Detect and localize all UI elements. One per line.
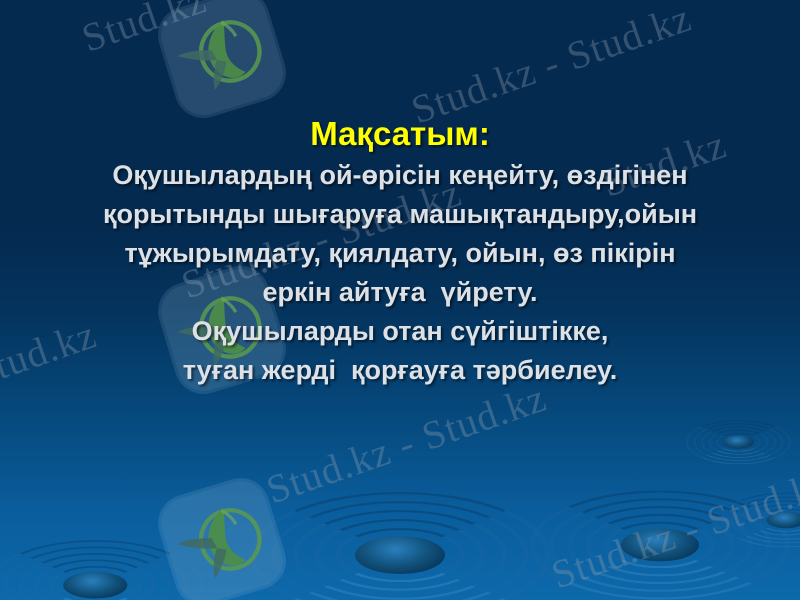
ripple-core [63,571,128,598]
slide-title: Мақсатым: [16,112,784,156]
ripple-ring [641,537,678,553]
presentation-slide: Stud.kz - Stud.kzStud.kz - Stud.kzStud.k… [0,0,800,600]
ripple-core [722,435,754,448]
watermark-text: Stud.kz - Stud.kz [545,459,800,599]
ripple-ring [777,516,796,524]
ripple-ring [767,512,800,528]
slide-body-line: қорытынды шығаруға машықтандыру,ойын [16,195,784,234]
watermark-text: Stud.kz [76,0,212,62]
ripple-medium-left [0,540,203,600]
ripple-ring [723,436,753,449]
ripple-ring [357,537,443,573]
ripple-ring [693,423,783,461]
slide-body-line: еркін айтуға үйрету. [16,273,784,312]
slide-body-line: туған жерді қорғауға тәрбиелеу. [16,351,784,390]
ripple-ring [64,572,125,598]
ripple-ring [336,528,465,582]
hummingbird-logo-icon [155,0,290,121]
ripple-ring [567,506,753,584]
ripple-ring [740,501,800,540]
ripple-ring [716,433,761,452]
ripple-ring [0,540,203,600]
slide-content: Мақсатым: Оқушылардың ой-өрісін кеңейту,… [0,112,800,390]
ripple-ring [731,439,746,445]
ripple-ring [708,429,768,454]
ripple-ring [586,514,735,576]
ripple-ring [293,510,507,600]
slide-body-line: Оқушылардың ой-өрісін кеңейту, өздігінен [16,156,784,195]
slide-body-line: тұжырымдату, қиялдату, ойын, өз пікірін [16,234,784,273]
ripple-ring [3,546,187,600]
ripple-ring [701,426,776,458]
ripple-small-edge [721,493,800,548]
ripple-ring [18,553,172,600]
ripple-ring [379,546,422,564]
ripple-core [621,529,699,562]
ripple-ring [250,492,550,600]
slide-body: Оқушылардың ой-өрісін кеңейту, өздігінен… [16,156,784,390]
ripple-ring [604,522,715,569]
ripple-core [767,512,800,528]
hummingbird-logo-icon [155,475,290,600]
ripple-ring [549,498,772,592]
ripple-core [355,536,445,574]
ripple-ring [721,493,800,548]
ripple-ring [49,566,141,600]
watermark-text: Stud.kz - Stud.kz [260,374,552,514]
ripple-ring [530,490,790,599]
ripple-ring [623,529,697,560]
ripple-ring [80,579,111,592]
ripple-ring [314,519,485,591]
ripple-ring [758,508,800,531]
ripple-large-right [530,490,790,599]
ripple-ring [749,504,800,535]
slide-body-line: Оқушыларды отан сүйгіштікке, [16,312,784,351]
ripple-ring [271,501,528,600]
ripple-small-right [686,420,791,464]
ripple-ring [730,497,800,544]
ripple-large-center [250,492,550,600]
ripple-ring [686,420,791,464]
ripple-ring [34,559,157,600]
